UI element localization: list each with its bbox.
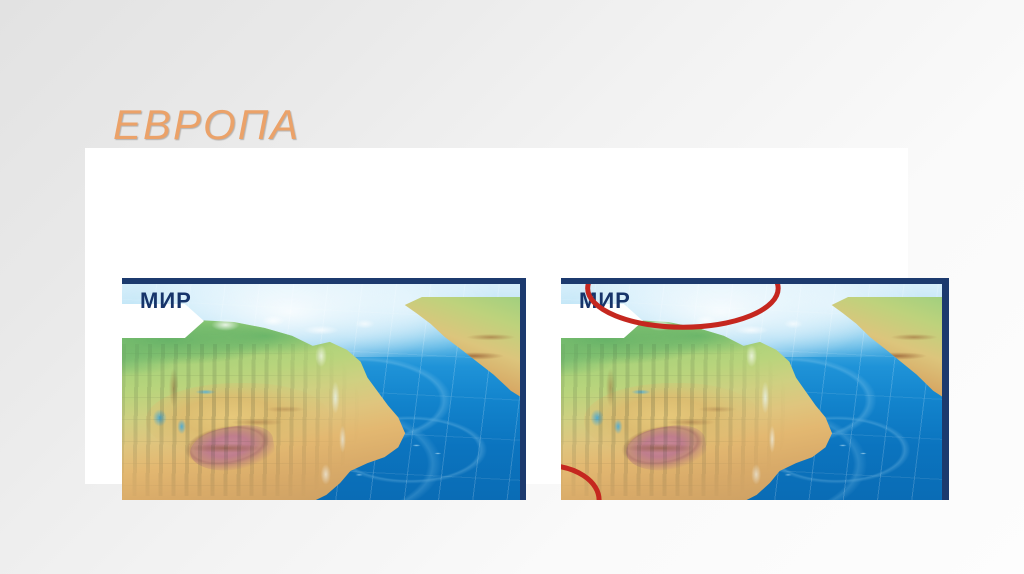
place-name-texture	[122, 344, 369, 495]
place-name-texture	[561, 344, 797, 495]
map-title-label: МИР	[579, 289, 631, 313]
map-title-label: МИР	[140, 289, 192, 313]
map-artwork-right: МИР	[561, 284, 942, 500]
map-image-right[interactable]: МИР	[561, 278, 949, 500]
map-image-left[interactable]: МИР	[122, 278, 526, 500]
slide-canvas: ЕВРОПА МИР	[0, 0, 1024, 574]
page-title: ЕВРОПА	[113, 101, 300, 149]
map-artwork-left: МИР	[122, 284, 520, 500]
